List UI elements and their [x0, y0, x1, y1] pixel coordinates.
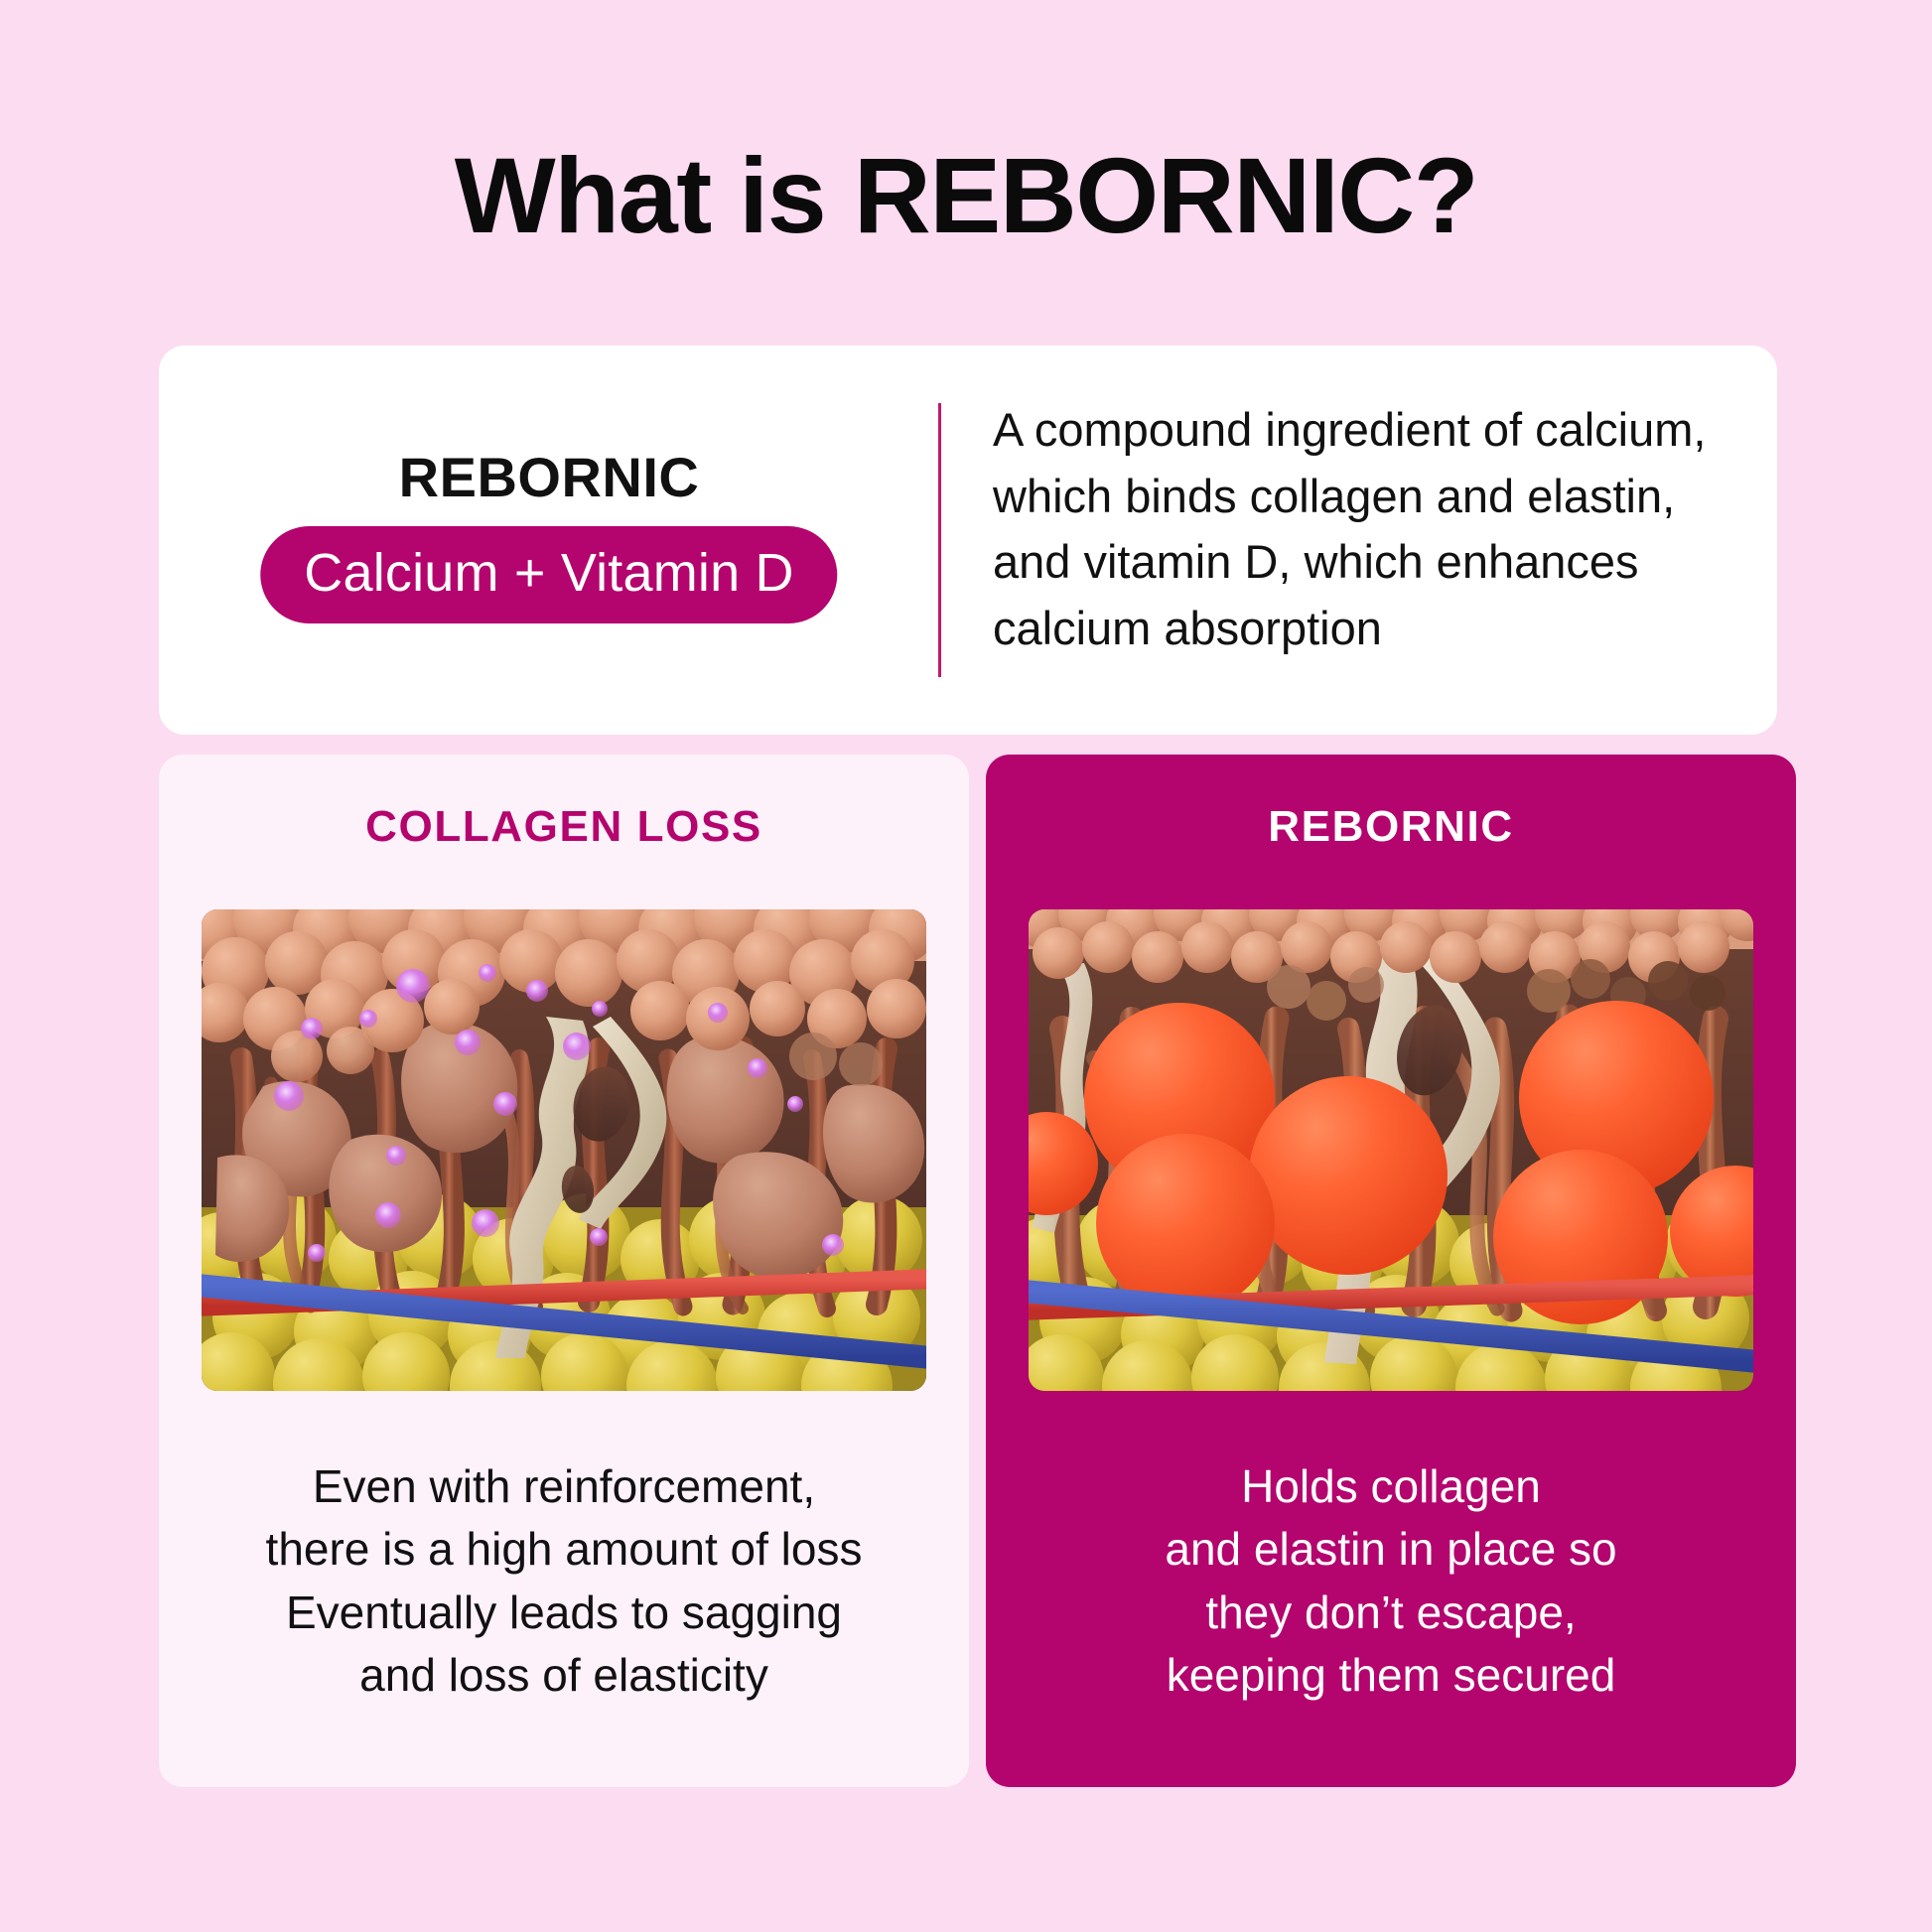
info-card: REBORNIC Calcium + Vitamin D A compound … — [159, 345, 1777, 735]
info-card-left-panel: REBORNIC Calcium + Vitamin D — [159, 345, 939, 735]
page-title: What is REBORNIC? — [0, 139, 1932, 251]
illustration-rebornic — [1029, 909, 1753, 1391]
comparison-heading-right: REBORNIC — [986, 802, 1796, 852]
comparison-caption-right: Holds collagen and elastin in place so t… — [1014, 1455, 1768, 1708]
ingredient-pill-badge: Calcium + Vitamin D — [260, 526, 837, 623]
info-card-description: A compound ingredient of calcium, which … — [993, 397, 1747, 662]
comparison-card-collagen-loss: COLLAGEN LOSS — [159, 755, 969, 1787]
brand-name: REBORNIC — [159, 445, 939, 509]
comparison-caption-left: Even with reinforcement, there is a high… — [187, 1455, 941, 1708]
vertical-divider — [938, 403, 941, 677]
infographic-root: What is REBORNIC? REBORNIC Calcium + Vit… — [0, 0, 1932, 1932]
comparison-card-rebornic: REBORNIC — [986, 755, 1796, 1787]
illustration-collagen-loss — [202, 909, 926, 1391]
comparison-heading-left: COLLAGEN LOSS — [159, 802, 969, 852]
